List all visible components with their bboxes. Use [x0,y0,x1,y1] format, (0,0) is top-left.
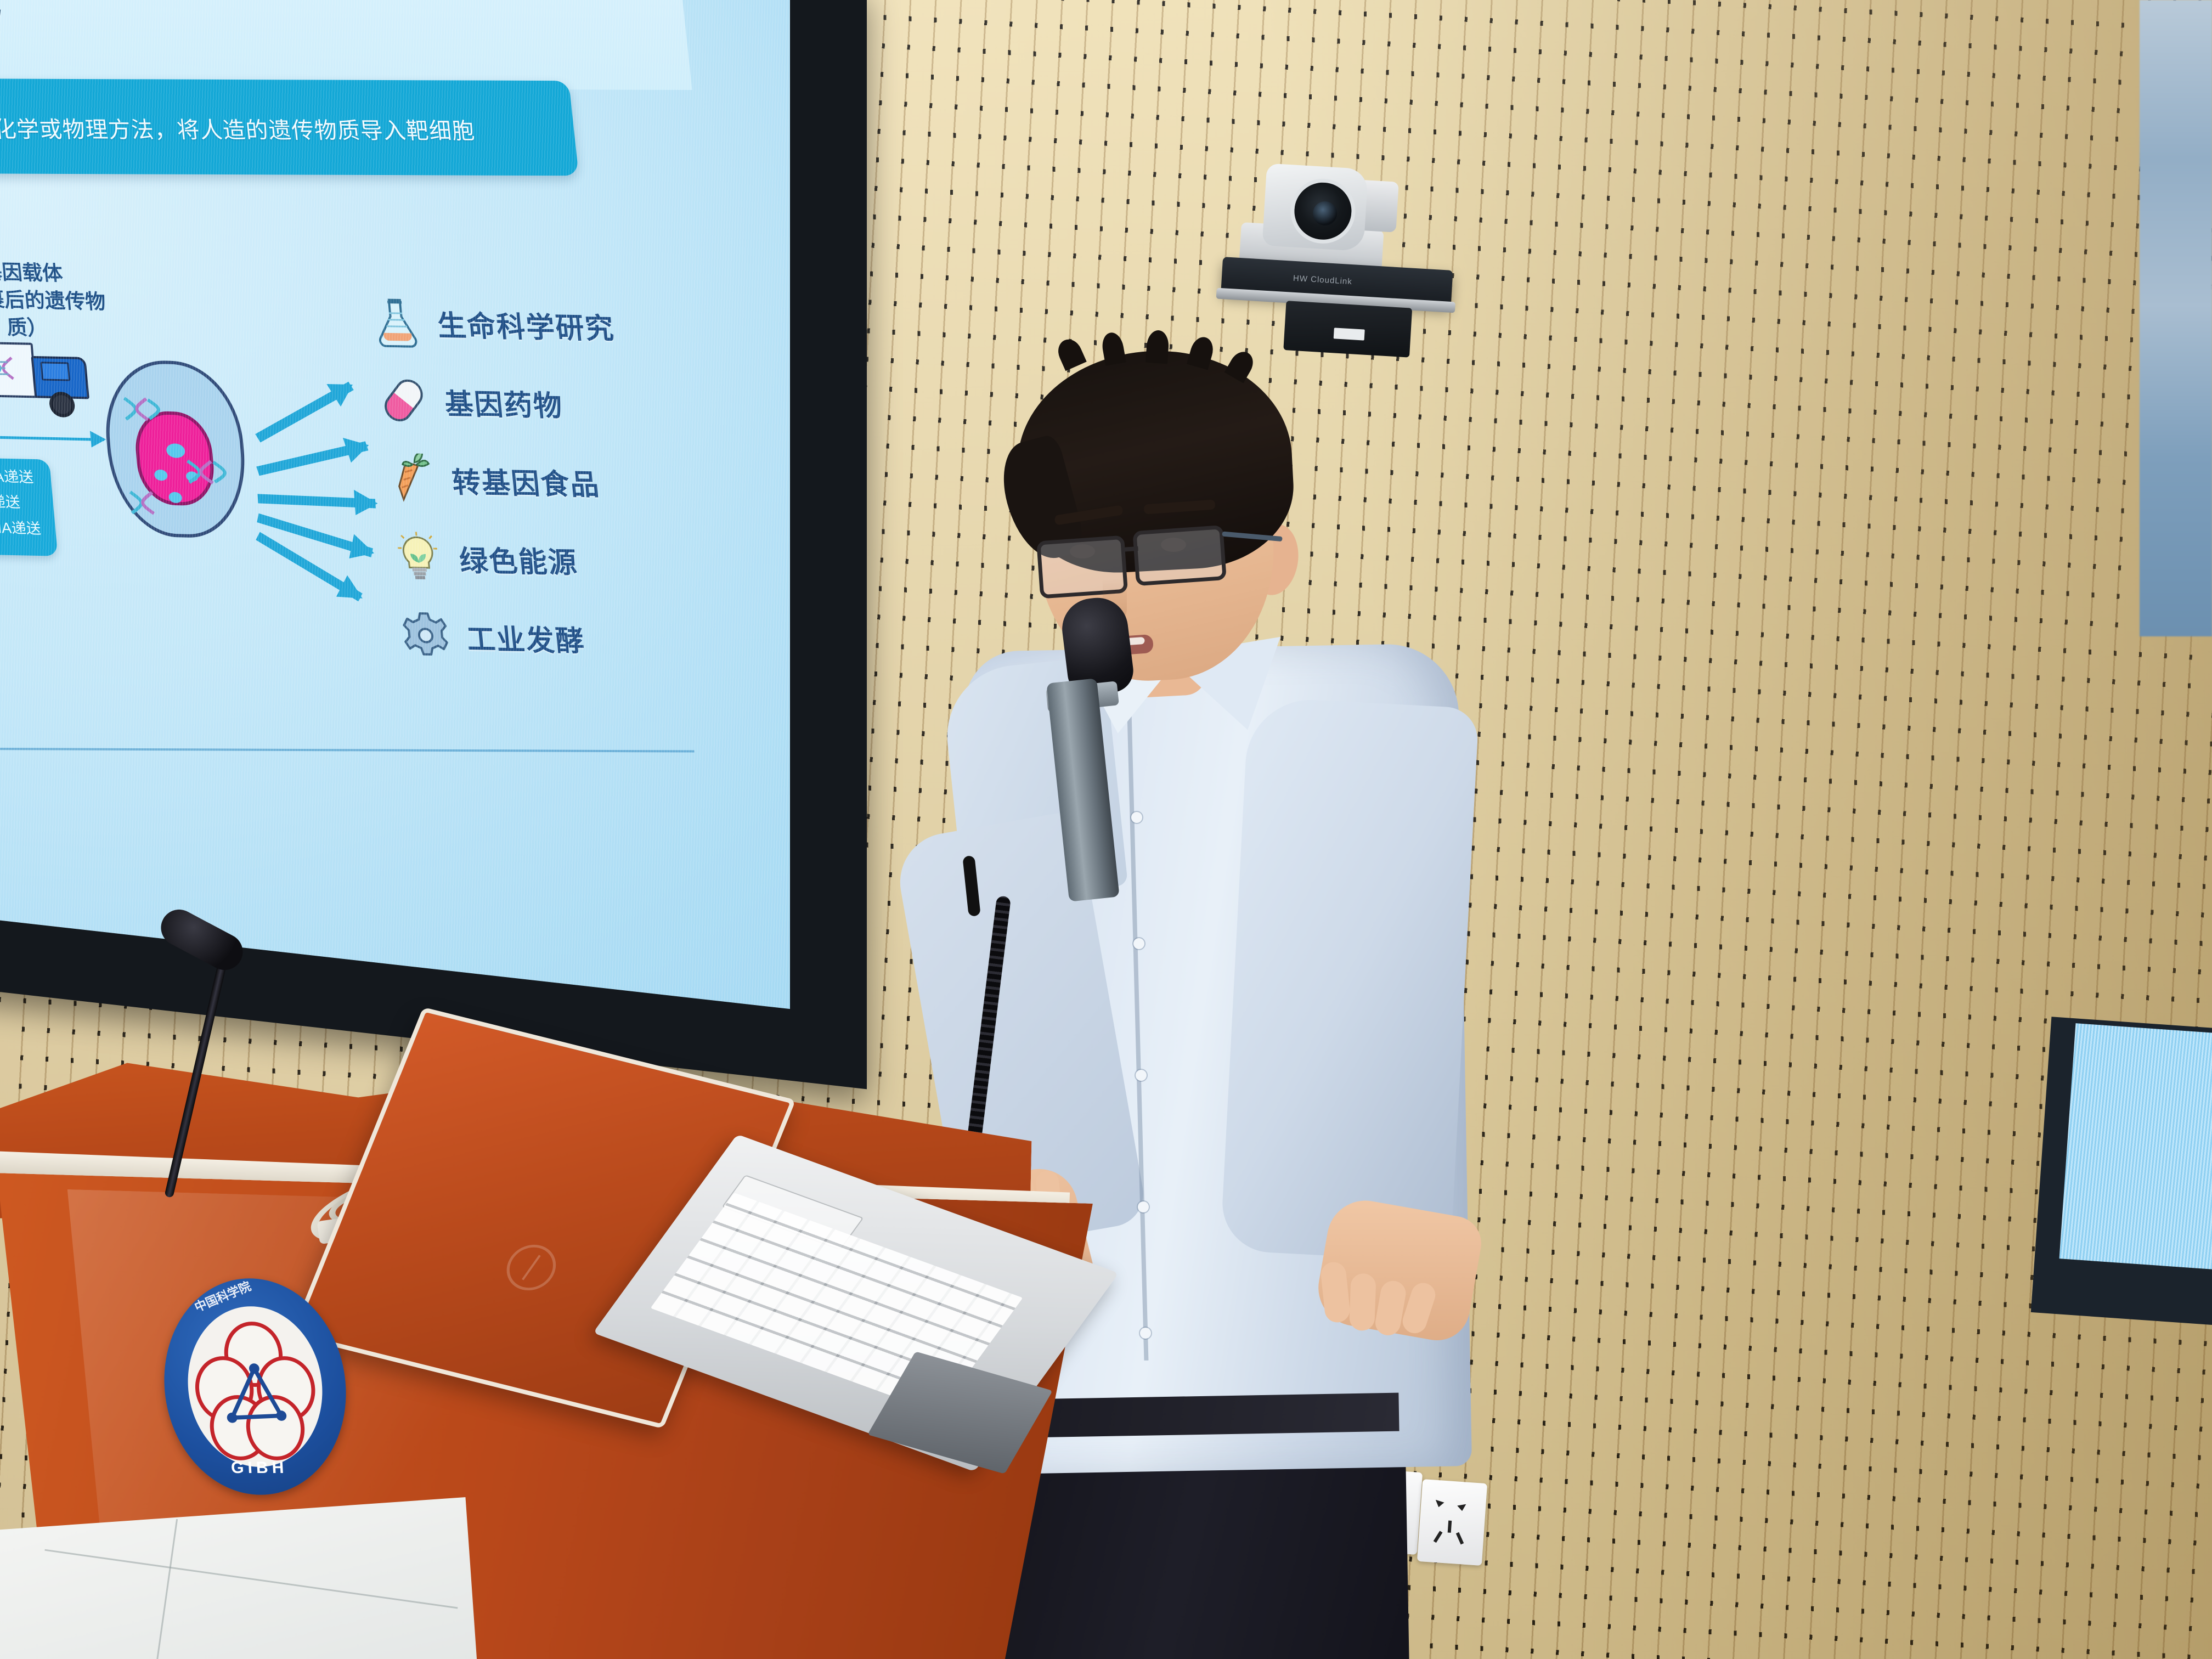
r-finger-4 [1400,1280,1438,1336]
application-row-3: 绿色能源 [391,517,748,602]
camera-lens [1289,177,1357,245]
application-label-3: 绿色能源 [458,537,579,580]
application-row-4: 工业发酵 [398,596,755,680]
arrow-to-application-0 [255,382,353,443]
flask-icon [370,296,422,348]
carrot-icon [385,453,437,505]
delivery-method-0: 质粒DNA递送 [0,462,52,491]
cell-dna-icon-1 [121,396,172,422]
delivery-method-2: IVTmRNA递送 [0,513,57,542]
shirt-button-1 [1131,812,1142,823]
application-label-0: 生命科学研究 [436,302,617,347]
delivery-methods-list: 质粒DNA递送 病毒递送 IVTmRNA递送 [0,462,57,542]
application-label-1: 基因药物 [443,380,565,424]
application-row-2: 转基因食品 [384,439,741,524]
shirt-button-5 [1140,1328,1151,1339]
hp-logo-icon [499,1240,563,1295]
r-finger-3 [1373,1279,1408,1337]
application-list: 生命科学研究 基因药物 [369,283,755,681]
floor-tile-seam-1 [44,1549,458,1609]
hair-spike-3 [1145,330,1170,364]
presentation-screen[interactable]: 义及类型 递送就是用生物、化学或物理方法，将人造的遗传物质导入靶细胞 基因载体 … [0,0,790,1009]
slide-canvas: 义及类型 递送就是用生物、化学或物理方法，将人造的遗传物质导入靶细胞 基因载体 … [0,0,790,1009]
right-glass-panel [2140,0,2212,636]
presenter-right-sleeve [1220,697,1479,1262]
delivery-direction-arrow [0,435,104,441]
slide-callout-text: 递送就是用生物、化学或物理方法，将人造的遗传物质导入靶细胞 [0,110,586,145]
gene-vector-label-line2: （包裹后的遗传物质） [0,285,124,344]
shirt-button-2 [1133,938,1144,949]
r-finger-2 [1349,1273,1376,1331]
floor-tile-seam-2 [153,1519,178,1659]
hair-spike-1 [1054,336,1087,371]
cell-dna-icon-2 [184,458,239,486]
capsule-icon [378,375,430,426]
arrow-to-application-1 [256,441,368,476]
dna-helix-icon [0,354,16,381]
cell-dna-icon-3 [127,490,179,516]
lecture-hall-photo: 义及类型 递送就是用生物、化学或物理方法，将人造的遗传物质导入靶细胞 基因载体 … [0,0,2212,1659]
slide-divider [0,747,695,752]
arrow-to-application-2 [257,494,376,508]
gear-icon [400,610,452,661]
slide-title-band [0,0,692,90]
gene-vector-label: 基因载体 （包裹后的遗传物质） [0,257,124,344]
ptz-camera-icon [1262,163,1369,252]
emblem-acronym: GIBH [168,1459,351,1477]
truck-window [40,362,70,381]
lightbulb-icon [392,532,444,583]
shirt-button-3 [1136,1070,1147,1081]
delivery-truck-icon [0,336,97,417]
application-label-4: 工业发酵 [465,616,586,659]
emblem-triangle-icon [223,1361,288,1430]
application-row-0: 生命科学研究 [369,283,726,367]
presenter-belt [998,1393,1399,1438]
glasses-lens-right [1132,525,1227,586]
target-cell-illustration [100,359,252,539]
institute-emblem: GIBH 中国科学院 [159,1278,351,1494]
shirt-button-4 [1138,1201,1149,1212]
delivery-method-1: 病毒递送 [0,488,55,517]
application-row-1: 基因药物 [376,361,733,445]
application-label-2: 转基因食品 [450,459,601,503]
secondary-screen[interactable] [2059,1023,2212,1276]
video-conference-unit: HW CloudLink [1223,150,1443,354]
gene-vector-label-line1: 基因载体 [0,257,119,289]
